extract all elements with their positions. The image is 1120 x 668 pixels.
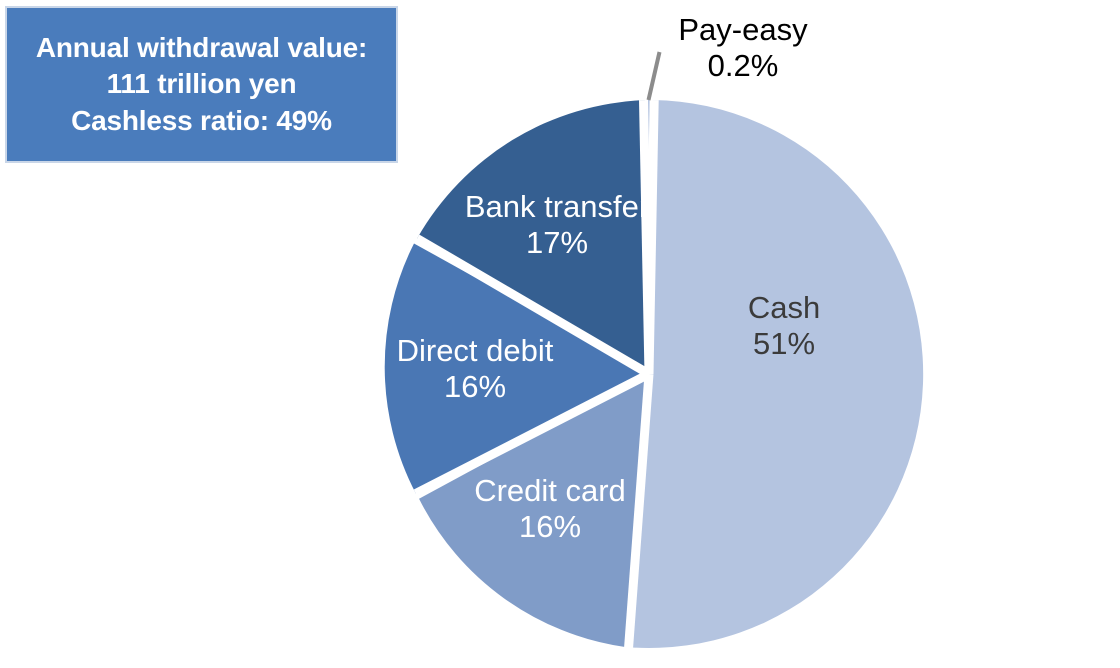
pie-graphic [0,0,1120,668]
pie-chart-figure: Annual withdrawal value: 111 trillion ye… [0,0,1120,668]
pie-slice-cash[interactable] [632,100,923,648]
separator-payeasy-banktransfer [644,100,650,374]
pay-easy-leader-line [649,52,660,100]
pie-svg [0,0,1120,668]
